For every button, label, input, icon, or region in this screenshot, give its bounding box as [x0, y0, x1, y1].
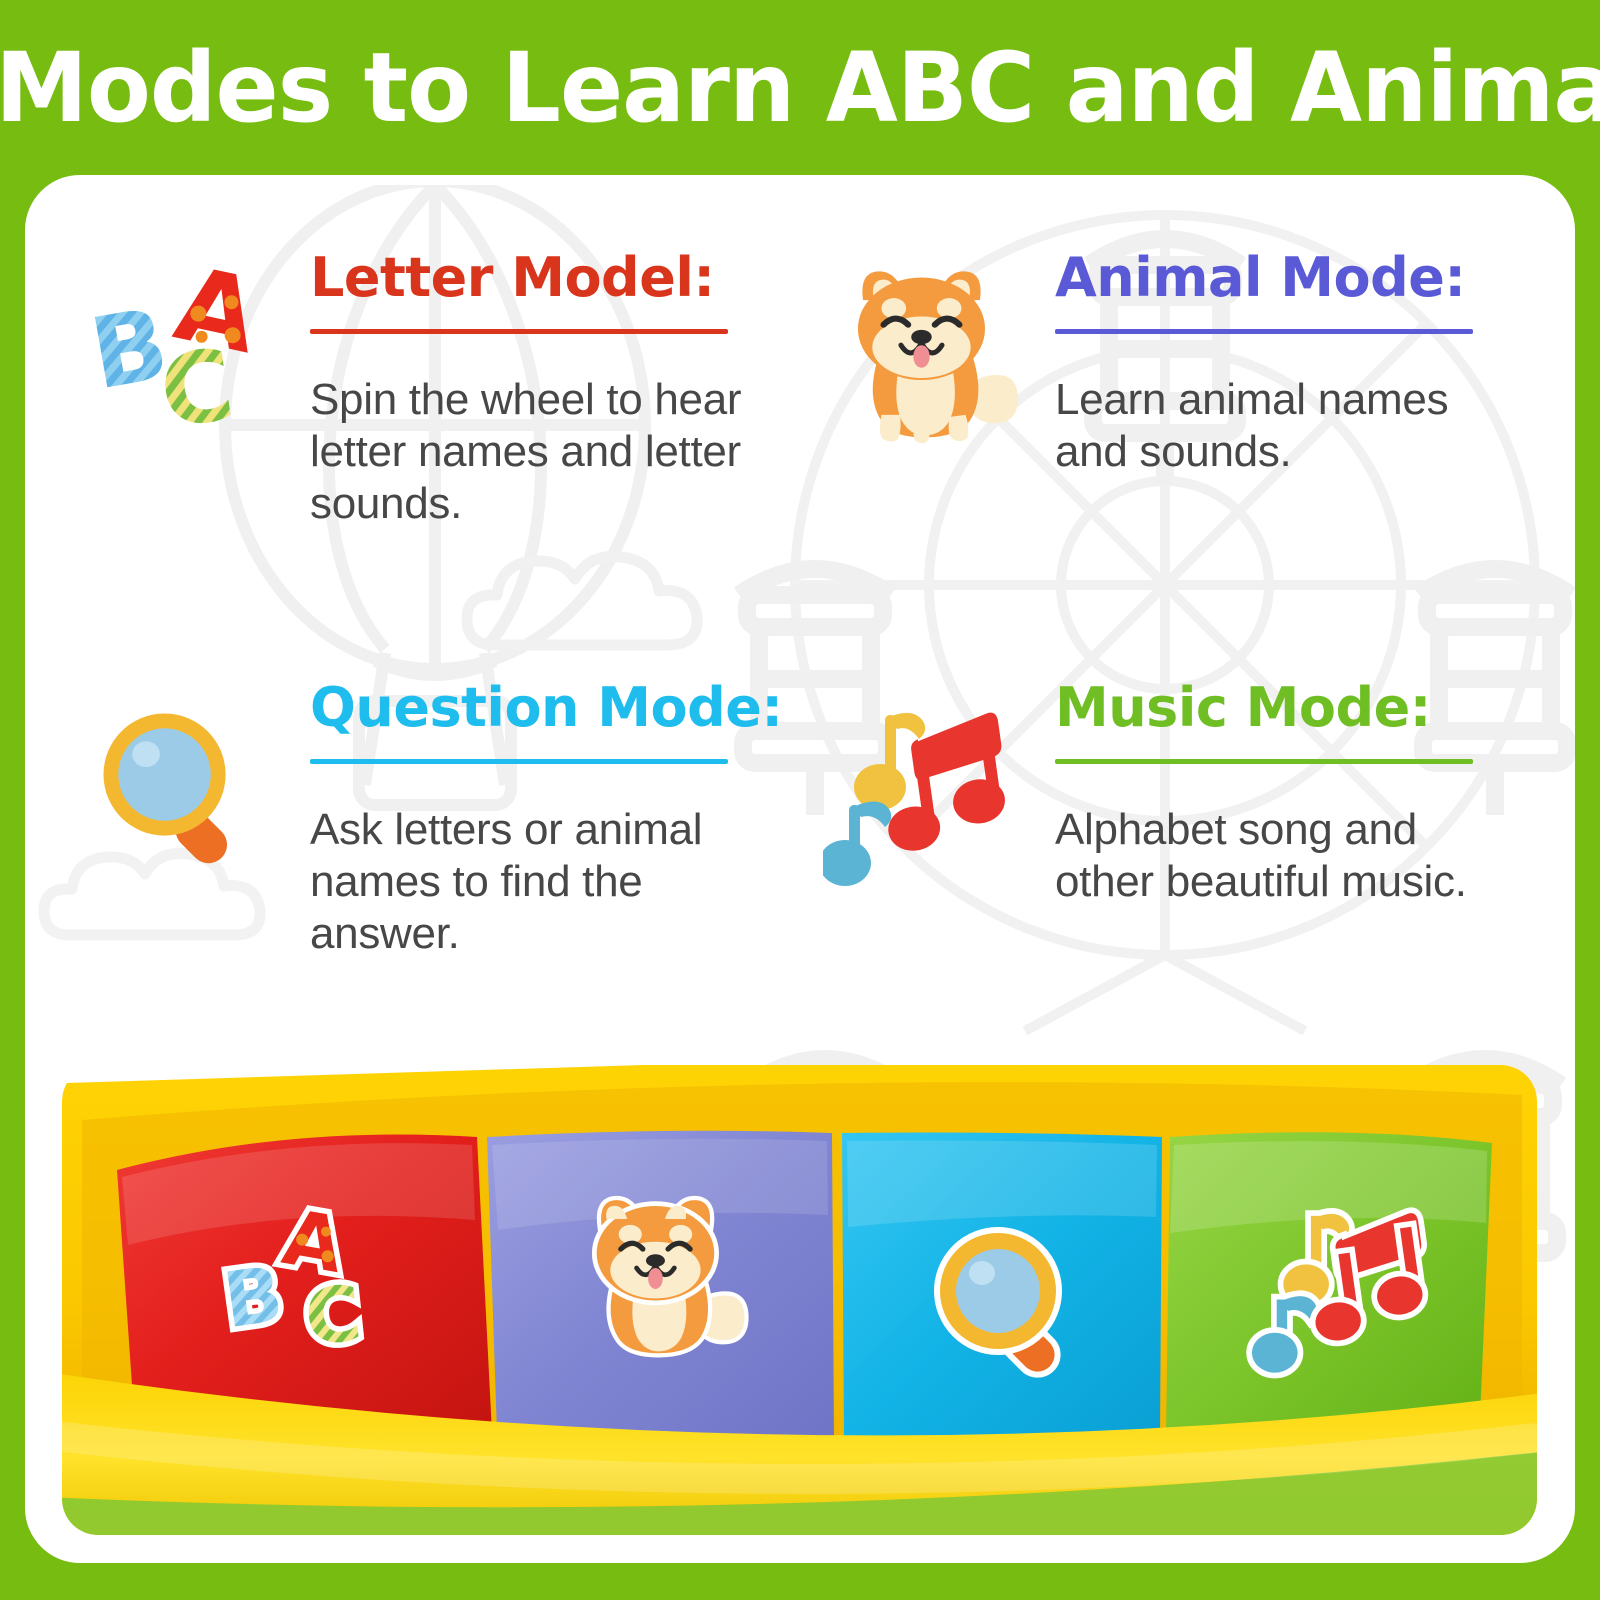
header-bar: 4 Modes to Learn ABC and Animals: [0, 0, 1600, 175]
feature-underline: [310, 759, 728, 764]
feature-underline: [1055, 329, 1473, 334]
feature-body: Letter Model: Spin the wheel to hear let…: [310, 250, 780, 530]
feature-description: Spin the wheel to hear letter names and …: [310, 374, 780, 530]
feature-heading: Letter Model:: [310, 250, 780, 307]
shiba-dog-icon: [815, 250, 1030, 465]
magnifying-glass-icon: [70, 680, 285, 895]
page-title: 4 Modes to Learn ABC and Animals: [0, 32, 1600, 144]
feature-description: Ask letters or animal names to find the …: [310, 804, 780, 960]
feature-grid: A B C Letter Mod: [25, 175, 1575, 1055]
svg-text:C: C: [301, 1268, 366, 1362]
feature-description: Alphabet song and other beautiful music.: [1055, 804, 1525, 908]
content-card: A B C Letter Mod: [25, 175, 1575, 1563]
abc-letters-icon: A B C: [70, 250, 285, 465]
feature-underline: [1055, 759, 1473, 764]
feature-body: Question Mode: Ask letters or animal nam…: [310, 680, 780, 960]
feature-underline: [310, 329, 728, 334]
feature-heading: Animal Mode:: [1055, 250, 1525, 307]
feature-heading: Music Mode:: [1055, 680, 1525, 737]
feature-description: Learn animal names and sounds.: [1055, 374, 1525, 478]
product-photo: A B C: [62, 1065, 1537, 1535]
music-notes-icon: [815, 680, 1030, 895]
svg-text:B: B: [218, 1249, 288, 1345]
feature-body: Animal Mode: Learn animal names and soun…: [1055, 250, 1525, 478]
feature-body: Music Mode: Alphabet song and other beau…: [1055, 680, 1525, 908]
feature-heading: Question Mode:: [310, 680, 780, 737]
toy-panel-illustration: A B C: [62, 1065, 1537, 1535]
